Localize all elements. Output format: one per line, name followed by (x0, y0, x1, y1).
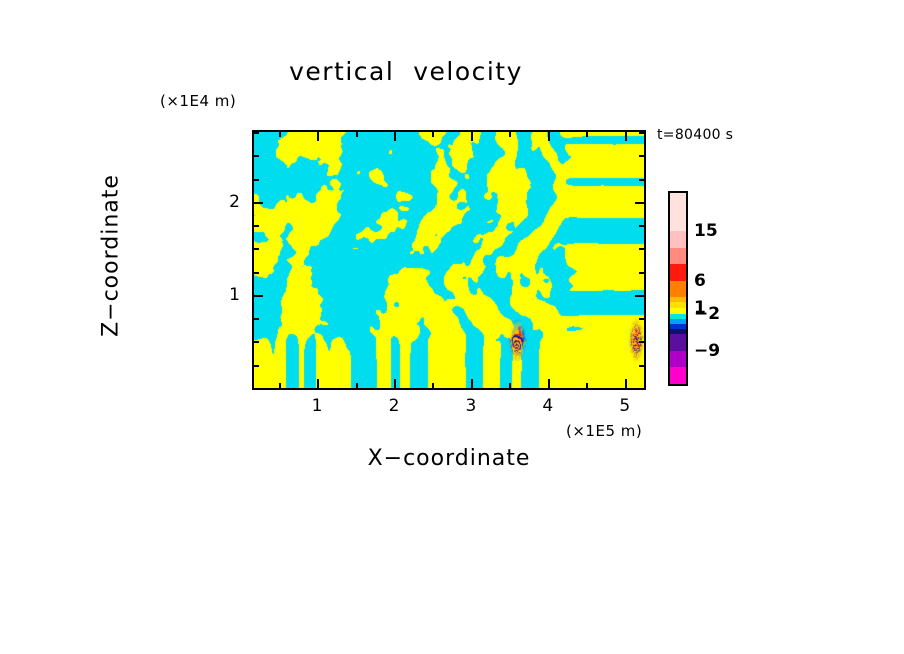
y-axis-tick (639, 318, 644, 320)
x-axis-tick (625, 379, 627, 388)
y-axis-tick (254, 248, 259, 250)
x-axis-unit-label: (×1E5 m) (566, 422, 642, 440)
x-axis-tick (432, 132, 434, 137)
x-axis-tick (509, 132, 511, 137)
x-tick-label: 2 (389, 396, 400, 416)
y-axis-tick (639, 225, 644, 227)
x-axis-tick (586, 383, 588, 388)
colorbar (668, 191, 688, 386)
plot-area (252, 130, 646, 390)
x-axis-title: X−coordinate (252, 446, 646, 471)
x-axis-tick (625, 132, 627, 141)
x-axis-tick (394, 379, 396, 388)
y-axis-tick (254, 318, 259, 320)
x-axis-tick (548, 132, 550, 141)
x-tick-label: 3 (466, 396, 477, 416)
x-axis-tick (471, 379, 473, 388)
x-axis-tick (279, 132, 281, 137)
y-axis-tick (254, 202, 263, 204)
colorbar-band (670, 367, 686, 384)
colorbar-tick-label: 15 (694, 221, 718, 241)
y-axis-tick (254, 365, 259, 367)
y-axis-unit-label: (×1E4 m) (160, 92, 236, 110)
x-axis-tick (586, 132, 588, 137)
y-axis-tick (639, 365, 644, 367)
colorbar-band (670, 264, 686, 281)
y-axis-tick (639, 248, 644, 250)
colorbar-band (670, 231, 686, 248)
y-tick-label: 2 (218, 192, 240, 212)
y-axis-tick (254, 341, 259, 343)
colorbar-band (670, 281, 686, 298)
page-title: vertical velocity (0, 57, 858, 86)
colorbar-band (670, 351, 686, 368)
y-axis-tick (639, 179, 644, 181)
y-axis-tick (254, 132, 259, 134)
x-axis-tick (432, 383, 434, 388)
x-axis-tick (394, 132, 396, 141)
colorbar-band (670, 334, 686, 351)
y-axis-tick (639, 132, 644, 134)
y-axis-tick (635, 295, 644, 297)
colorbar-band (670, 193, 686, 231)
x-axis-tick (356, 132, 358, 137)
x-axis-tick (509, 383, 511, 388)
colorbar-tick-label: 6 (694, 271, 706, 291)
x-axis-tick (317, 379, 319, 388)
y-axis-tick (254, 225, 259, 227)
x-axis-tick (471, 132, 473, 141)
colorbar-band (670, 248, 686, 265)
y-axis-tick (254, 295, 263, 297)
colorbar-tick-label: −2 (694, 304, 720, 324)
y-axis-title: Z−coordinate (99, 106, 124, 406)
y-axis-tick (639, 155, 644, 157)
colorbar-tick-label: −9 (694, 341, 720, 361)
x-axis-tick (279, 383, 281, 388)
vertical-velocity-field (254, 132, 644, 388)
y-axis-tick (635, 202, 644, 204)
x-axis-tick (317, 132, 319, 141)
x-tick-label: 5 (619, 396, 630, 416)
y-axis-tick (639, 272, 644, 274)
timestamp-annotation: t=80400 s (657, 127, 733, 143)
y-axis-tick (254, 179, 259, 181)
y-axis-tick (639, 341, 644, 343)
y-tick-label: 1 (218, 285, 240, 305)
x-axis-tick (548, 379, 550, 388)
y-axis-tick (254, 272, 259, 274)
x-tick-label: 1 (312, 396, 323, 416)
x-tick-label: 4 (542, 396, 553, 416)
y-axis-tick (254, 155, 259, 157)
x-axis-tick (356, 383, 358, 388)
